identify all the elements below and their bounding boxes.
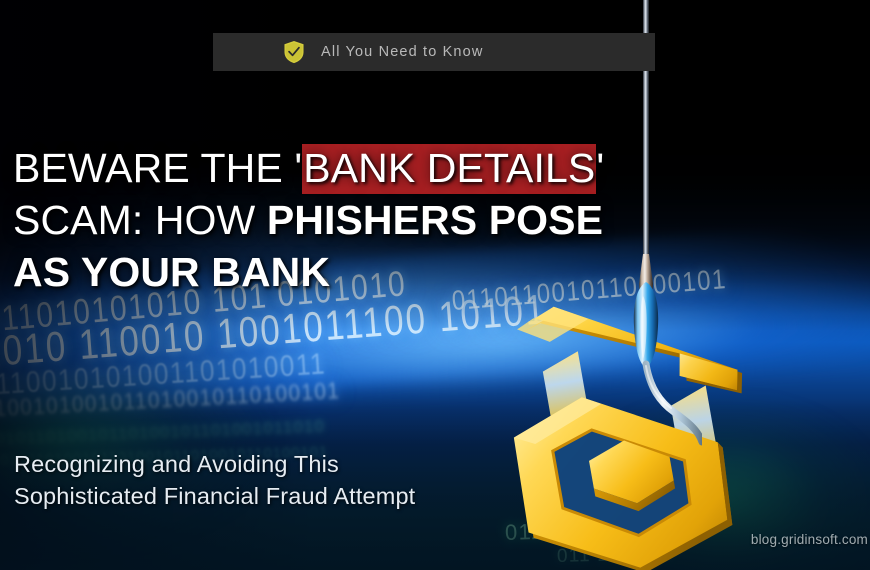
page-title: BEWARE THE 'BANK DETAILS' SCAM: HOW PHIS… [13,142,673,298]
banner-label: All You Need to Know [321,44,483,60]
headline-suffix: ' [596,145,604,191]
headline-line-1: BEWARE THE 'BANK DETAILS' [13,142,673,194]
subtitle: Recognizing and Avoiding This Sophistica… [14,448,415,512]
subtitle-line-2: Sophisticated Financial Fraud Attempt [14,480,415,512]
headline-prefix: BEWARE THE ' [13,145,302,191]
headline-line-3: AS YOUR BANK [13,246,673,298]
headline-line2-bold: PHISHERS POSE [267,197,603,243]
shield-check-icon [283,40,305,64]
headline-line2-regular: SCAM: HOW [13,197,267,243]
all-you-need-to-know-banner[interactable]: All You Need to Know [213,33,655,71]
headline-line-2: SCAM: HOW PHISHERS POSE [13,194,673,246]
headline-highlight: BANK DETAILS [302,144,596,194]
subtitle-line-1: Recognizing and Avoiding This [14,448,415,480]
phishing-scam-poster: 1011010101010 101 0101010 0111010 110010… [0,0,870,570]
watermark: blog.gridinsoft.com [751,532,868,547]
